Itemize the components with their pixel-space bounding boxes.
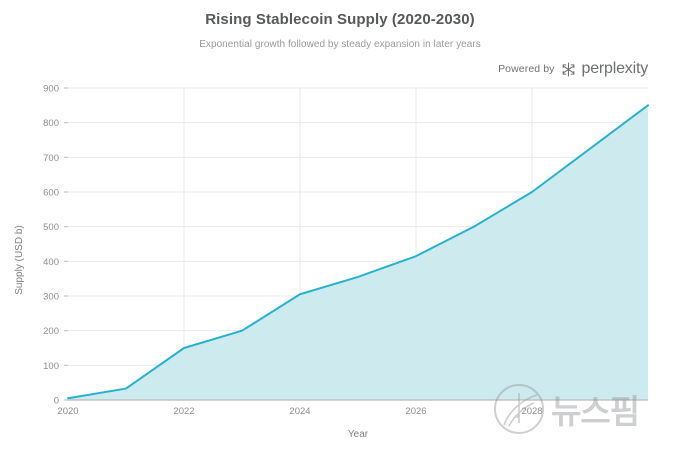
- y-axis-tick-label: 900: [43, 84, 59, 95]
- chart-plot: 0100200300400500600700800900 20202022202…: [0, 0, 680, 453]
- x-axis-tick-label: 2028: [521, 406, 542, 417]
- x-axis-tick-label: 2022: [173, 406, 194, 417]
- x-axis-tick-label: 2024: [289, 406, 310, 417]
- area-fill: [68, 105, 648, 400]
- y-axis-tick-label: 600: [43, 188, 59, 199]
- x-axis-tick-labels: 20202022202420262028: [57, 406, 542, 417]
- y-axis-tick-label: 800: [43, 118, 59, 129]
- x-axis-title: Year: [348, 429, 369, 440]
- y-axis-tick-labels: 0100200300400500600700800900: [43, 84, 59, 407]
- y-axis-tick-label: 700: [43, 153, 59, 164]
- chart-container: Rising Stablecoin Supply (2020-2030) Exp…: [0, 0, 680, 453]
- y-axis-tick-label: 500: [43, 222, 59, 233]
- y-axis-tick-label: 200: [43, 326, 59, 337]
- area-series-stablecoin-supply: [68, 105, 648, 400]
- y-axis-title: Supply (USD b): [14, 225, 25, 294]
- y-axis-tick-label: 400: [43, 257, 59, 268]
- x-axis-tick-label: 2020: [57, 406, 78, 417]
- y-axis-tick-label: 100: [43, 361, 59, 372]
- x-axis-tick-label: 2026: [405, 406, 426, 417]
- y-axis-tick-label: 300: [43, 292, 59, 303]
- y-axis-tick-label: 0: [54, 396, 59, 407]
